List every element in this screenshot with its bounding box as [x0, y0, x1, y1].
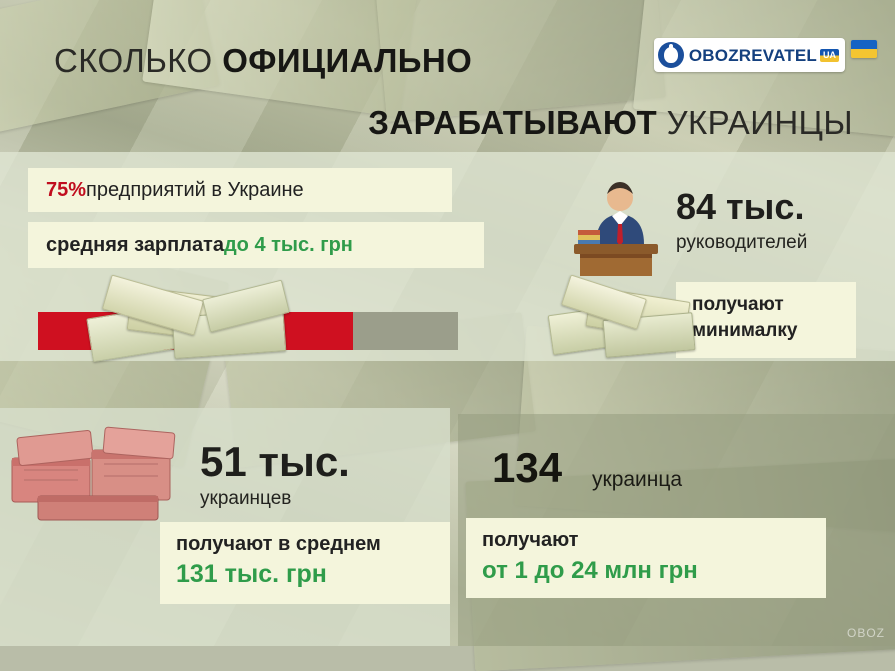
title-plain-1: СКОЛЬКО — [54, 42, 222, 79]
managers-detail-line-1: получают — [692, 292, 856, 318]
title-plain-2: УКРАИНЦЫ — [667, 104, 853, 141]
salary-prefix: средняя зарплата — [46, 234, 224, 257]
managers-number: 84 тыс. — [676, 186, 804, 228]
ukrainians-avg-detail-line: получают в среднем — [176, 531, 450, 558]
header: СКОЛЬКО ОФИЦИАЛЬНО ЗАРАБАТЫВАЮТ УКРАИНЦЫ… — [0, 0, 895, 152]
enterprises-headline-rest: предприятий в Украине — [86, 179, 304, 202]
title-bold-1: ОФИЦИАЛЬНО — [222, 42, 472, 79]
banknote-bundles-icon — [8, 424, 198, 524]
ukrainians-top-detail-line: получают — [482, 526, 826, 554]
ukrainians-top-detail-card: получают от 1 до 24 млн грн — [466, 518, 826, 598]
ukrainians-top-subject: украинца — [592, 468, 682, 492]
banknote-stack-icon — [548, 282, 696, 361]
enterprises-headline: 75% предприятий в Украине — [28, 168, 452, 212]
ukraine-flag-icon — [851, 40, 877, 58]
enterprises-percent: 75% — [46, 179, 86, 202]
logo-ua-badge: UA — [820, 49, 839, 62]
ukrainians-avg-number: 51 тыс. — [200, 438, 350, 486]
title-bold-2: ЗАРАБАТЫВАЮТ — [368, 104, 666, 141]
ukrainians-avg-detail-card: получают в среднем 131 тыс. грн — [160, 522, 450, 604]
logo-text: OBOZREVATEL — [689, 47, 817, 64]
page-title-line-1: СКОЛЬКО ОФИЦИАЛЬНО — [54, 42, 472, 80]
logo-globe-icon — [658, 42, 684, 68]
managers-detail-card: получают минималку — [676, 282, 856, 358]
businessman-at-desk-icon — [560, 178, 668, 290]
obozrevatel-logo[interactable]: OBOZREVATEL UA — [654, 38, 845, 72]
ukrainians-top-number: 134 — [492, 444, 562, 492]
ukrainians-avg-amount: 131 тыс. грн — [176, 558, 450, 592]
managers-detail-line-2: минималку — [692, 318, 856, 344]
page-title-line-2: ЗАРАБАТЫВАЮТ УКРАИНЦЫ — [368, 104, 853, 142]
managers-subject: руководителей — [676, 232, 807, 254]
watermark: OBOZ — [847, 626, 885, 640]
enterprises-salary-line: средняя зарплата до 4 тыс. грн — [28, 222, 484, 268]
banknote-stack-icon — [85, 283, 295, 361]
ukrainians-top-amount: от 1 до 24 млн грн — [482, 554, 826, 588]
ukrainians-avg-subject: украинцев — [200, 488, 291, 510]
salary-accent: до 4 тыс. грн — [224, 234, 353, 257]
